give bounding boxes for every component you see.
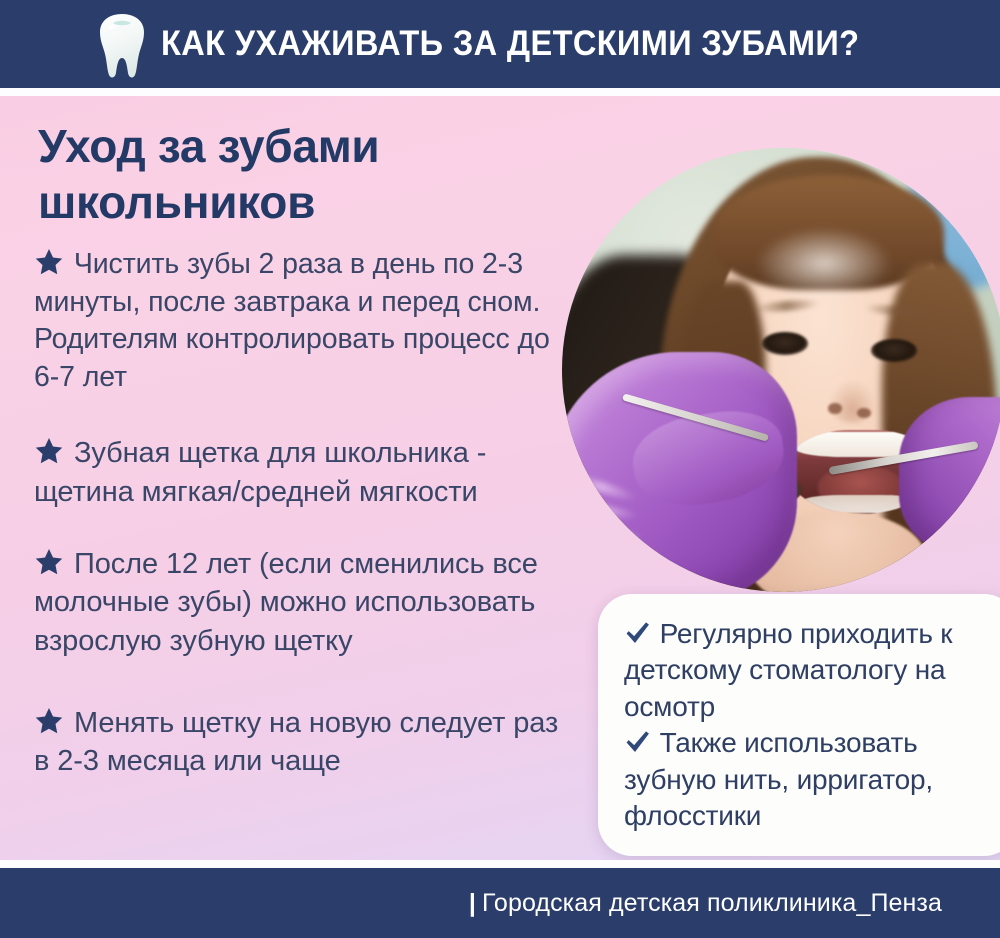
main-content: Уход за зубами школьников Чистить зубы 2… [0, 96, 1000, 860]
list-item: После 12 лет (если сменились все молочны… [34, 545, 579, 660]
photo-glove-right [899, 397, 1000, 557]
list-item: Зубная щетка для школьника - щетина мягк… [34, 434, 579, 511]
header-divider [0, 88, 1000, 96]
tip-item: Также использовать зубную нить, ирригато… [624, 725, 996, 834]
list-item-text: Чистить зубы 2 раза в день по 2-3 минуты… [34, 248, 550, 393]
tip-item-text: Также использовать зубную нить, ирригато… [624, 727, 933, 831]
photo-nostril-right [857, 408, 870, 419]
photo-glove-fold [583, 528, 643, 542]
tip-item: Регулярно приходить к детскому стоматоло… [624, 616, 996, 725]
photo-highlight [757, 228, 890, 299]
footer-credit-text: Городская детская поликлиника_Пенза [482, 889, 942, 917]
check-icon [624, 620, 651, 646]
footer-divider [0, 860, 1000, 868]
photo-glove-fold [573, 500, 638, 522]
star-icon [34, 547, 64, 577]
header-bar: КАК УХАЖИВАТЬ ЗА ДЕТСКИМИ ЗУБАМИ? [0, 0, 1000, 88]
footer-pipe: | [469, 889, 476, 917]
star-icon [34, 706, 64, 736]
check-icon [624, 729, 651, 755]
photo-nostril-left [828, 403, 841, 414]
page-title: Уход за зубами школьников [38, 118, 568, 230]
header-title: КАК УХАЖИВАТЬ ЗА ДЕТСКИМИ ЗУБАМИ? [161, 24, 859, 64]
star-icon [34, 247, 64, 277]
page-title-line-1: Уход за зубами [38, 118, 568, 174]
infographic-poster: КАК УХАЖИВАТЬ ЗА ДЕТСКИМИ ЗУБАМИ? [0, 0, 1000, 938]
tip-item-text: Регулярно приходить к детскому стоматоло… [624, 618, 952, 722]
dentist-photo [562, 148, 1000, 592]
photo-eye-right [871, 339, 918, 362]
list-item: Менять щетку на новую следует раз в 2-3 … [34, 704, 579, 781]
star-icon [34, 436, 64, 466]
list-item-text: Зубная щетка для школьника - щетина мягк… [34, 437, 486, 507]
tips-card: Регулярно приходить к детскому стоматоло… [598, 594, 1000, 856]
list-item-text: Менять щетку на новую следует раз в 2-3 … [34, 707, 558, 777]
list-item: Чистить зубы 2 раза в день по 2-3 минуты… [34, 246, 579, 396]
list-item-text: После 12 лет (если сменились все молочны… [34, 548, 538, 657]
page-title-line-2: школьников [38, 174, 568, 230]
footer-credit: |Городская детская поликлиника_Пенза [469, 889, 942, 918]
footer-bar: |Городская детская поликлиника_Пенза [0, 868, 1000, 938]
tooth-icon [97, 12, 147, 78]
advice-list: Чистить зубы 2 раза в день по 2-3 минуты… [34, 246, 579, 808]
